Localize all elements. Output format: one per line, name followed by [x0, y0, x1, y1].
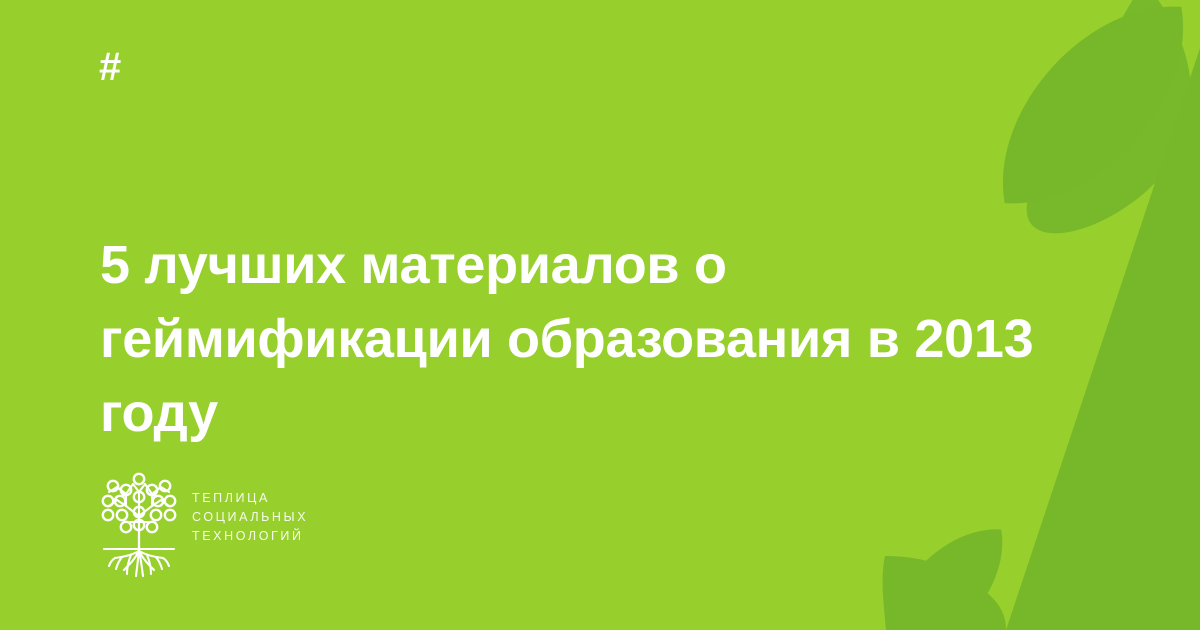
logo-wordmark-line-2: СОЦИАЛЬНЫХ	[192, 508, 308, 527]
tree-node	[165, 496, 175, 506]
hash-icon: #	[99, 47, 120, 87]
leaf-bottom-right-lobe-icon	[885, 556, 1006, 630]
tree-node	[117, 510, 127, 520]
logo[interactable]: ТЕПЛИЦА СОЦИАЛЬНЫХ ТЕХНОЛОГИЙ	[100, 470, 308, 580]
logo-wordmark: ТЕПЛИЦА СОЦИАЛЬНЫХ ТЕХНОЛОГИЙ	[192, 489, 308, 562]
tree-node	[103, 510, 113, 520]
tree-node	[134, 474, 144, 484]
page-title: 5 лучших материалов о геймификации образ…	[100, 228, 1110, 450]
tree-logo-icon	[100, 470, 178, 580]
leaf-bottom-right-icon	[883, 556, 1006, 630]
leaf-bottom-right-body-icon	[863, 506, 1028, 630]
leaf-top-right-body-icon	[963, 0, 1200, 240]
social-share-card: # 5 лучших материалов о геймификации обр…	[0, 0, 1200, 630]
logo-wordmark-line-1: ТЕПЛИЦА	[192, 489, 308, 508]
tree-node	[103, 496, 113, 506]
tree-node	[165, 510, 175, 520]
tree-node	[121, 522, 131, 532]
tree-node	[147, 522, 157, 532]
tree-node	[151, 510, 161, 520]
leaf-bottom-right-group	[863, 506, 1028, 630]
leaf-top-right-icon	[1011, 0, 1200, 235]
logo-wordmark-line-3: ТЕХНОЛОГИЙ	[192, 527, 308, 546]
leaf-top-right-group	[963, 0, 1200, 240]
